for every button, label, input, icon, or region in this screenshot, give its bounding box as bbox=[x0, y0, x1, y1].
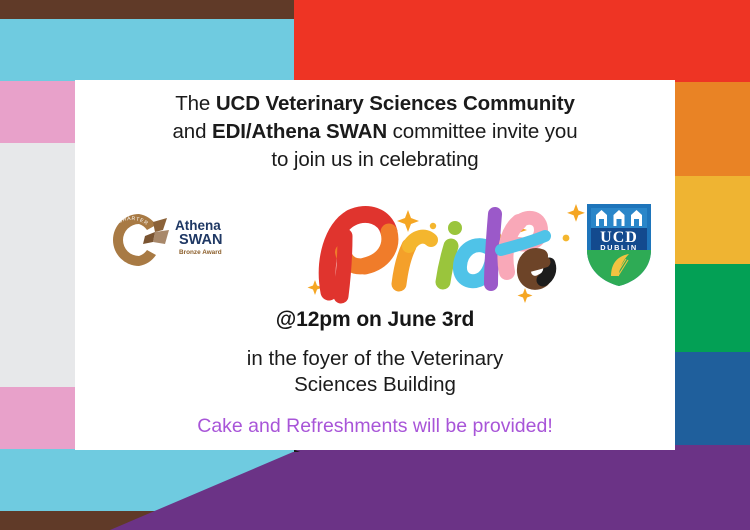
pride-wordmark bbox=[293, 188, 593, 306]
athena-name-line1: Athena bbox=[175, 218, 221, 233]
ucd-text-line2: DUBLIN bbox=[600, 243, 638, 252]
headline-line1-prefix: The bbox=[175, 92, 216, 115]
headline-line-1: The UCD Veterinary Sciences Community bbox=[75, 90, 675, 118]
gender-charter-ring-text: GENDER CHARTER bbox=[104, 216, 150, 248]
ucd-dublin-logo: UCD DUBLIN bbox=[583, 198, 655, 288]
ucd-castle-towers bbox=[596, 210, 642, 226]
pride-event-poster: The UCD Veterinary Sciences Community an… bbox=[0, 0, 750, 530]
headline-line-2: and EDI/Athena SWAN committee invite you bbox=[75, 118, 675, 146]
headline-line1-bold: UCD Veterinary Sciences Community bbox=[216, 92, 575, 115]
athena-name-line2: SWAN bbox=[179, 232, 223, 248]
event-time: @12pm on June 3rd bbox=[75, 308, 675, 332]
event-venue-line2: Sciences Building bbox=[75, 372, 675, 398]
content-card: The UCD Veterinary Sciences Community an… bbox=[75, 80, 675, 450]
event-refreshments: Cake and Refreshments will be provided! bbox=[75, 415, 675, 438]
headline-line2-bold: EDI/Athena SWAN bbox=[212, 120, 387, 143]
event-venue-line1: in the foyer of the Veterinary bbox=[75, 346, 675, 372]
headline-line2-suffix: committee invite you bbox=[387, 120, 577, 143]
athena-swan-logo: GENDER CHARTER Athena SWAN Bronze Award bbox=[95, 200, 235, 280]
headline-line-3: to join us in celebrating bbox=[75, 146, 675, 174]
headline-line2-prefix: and bbox=[173, 120, 213, 143]
event-venue: in the foyer of the Veterinary Sciences … bbox=[75, 346, 675, 398]
athena-award-label: Bronze Award bbox=[179, 249, 222, 256]
headline-block: The UCD Veterinary Sciences Community an… bbox=[75, 90, 675, 174]
